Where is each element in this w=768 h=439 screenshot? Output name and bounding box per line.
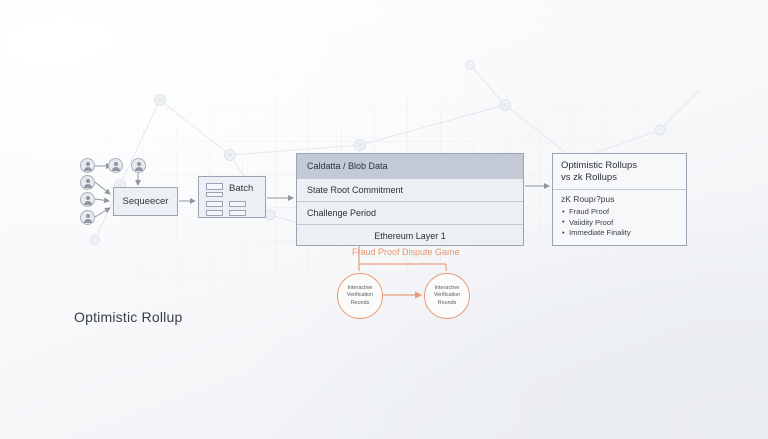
page-title: Optimistic Rollup	[74, 309, 182, 325]
user-icon	[108, 158, 123, 173]
batch-label: Batch	[229, 183, 253, 194]
l1-footer: Ethereum Layer 1	[297, 224, 523, 247]
list-item: Fraud Proof	[569, 207, 686, 218]
l1-row-state-root[interactable]: State Root Commitment	[297, 178, 523, 201]
sequencer-node[interactable]: Sequeecer	[113, 187, 178, 216]
circle-line: Interactive	[348, 285, 373, 292]
l1-row-label: State Root Commitment	[307, 185, 403, 195]
circle-line: Verification	[347, 292, 373, 299]
list-item: Immediate Finality	[569, 228, 686, 239]
batch-chip-icon	[206, 201, 223, 207]
l1-row-label: Challenge Period	[307, 208, 376, 218]
circle-line: Rounds	[438, 300, 457, 307]
circle-line: Reunds	[351, 300, 370, 307]
batch-chip-icon	[206, 183, 223, 190]
comparison-title: Optimistic Rollups vs zk Rollups	[553, 154, 686, 189]
interactive-verification-rounds-left[interactable]: Interactive Verification Reunds	[337, 273, 383, 319]
fraud-proof-title: Fraud Proof Dispute Game	[352, 247, 460, 257]
l1-row-label: Caldatta / Blob Data	[307, 161, 388, 171]
sequencer-label: Sequeecer	[123, 196, 169, 207]
comparison-list: Fraud Proof Vaiidity Proof Immediate Fin…	[553, 207, 686, 239]
comparison-subtitle: zK Roupı?pus	[553, 189, 686, 206]
batch-chip-icon	[229, 201, 246, 207]
l1-row-challenge-period[interactable]: Challenge Period	[297, 201, 523, 224]
comparison-title-line2: vs zk Rollups	[561, 172, 678, 184]
l1-row-caldata[interactable]: Caldatta / Blob Data	[297, 154, 523, 178]
comparison-panel[interactable]: Optimistic Rollups vs zk Rollups zK Roup…	[552, 153, 687, 246]
list-item: Vaiidity Proof	[569, 218, 686, 229]
user-icon	[80, 175, 95, 190]
batch-chip-icon	[206, 192, 223, 197]
ethereum-layer1-panel[interactable]: Caldatta / Blob Data State Root Commitme…	[296, 153, 524, 246]
interactive-verification-rounds-right[interactable]: Interactive Verification Rounds	[424, 273, 470, 319]
circle-line: Verification	[434, 292, 460, 299]
batch-node[interactable]: Batch	[198, 176, 266, 218]
user-icon	[131, 158, 146, 173]
user-icon	[80, 192, 95, 207]
batch-chip-icon	[229, 210, 246, 216]
comparison-title-line1: Optimistic Rollups	[561, 160, 678, 172]
l1-footer-label: Ethereum Layer 1	[374, 231, 446, 241]
circle-line: Interactive	[435, 285, 460, 292]
user-icon	[80, 210, 95, 225]
batch-chip-icon	[206, 210, 223, 216]
user-icon	[80, 158, 95, 173]
